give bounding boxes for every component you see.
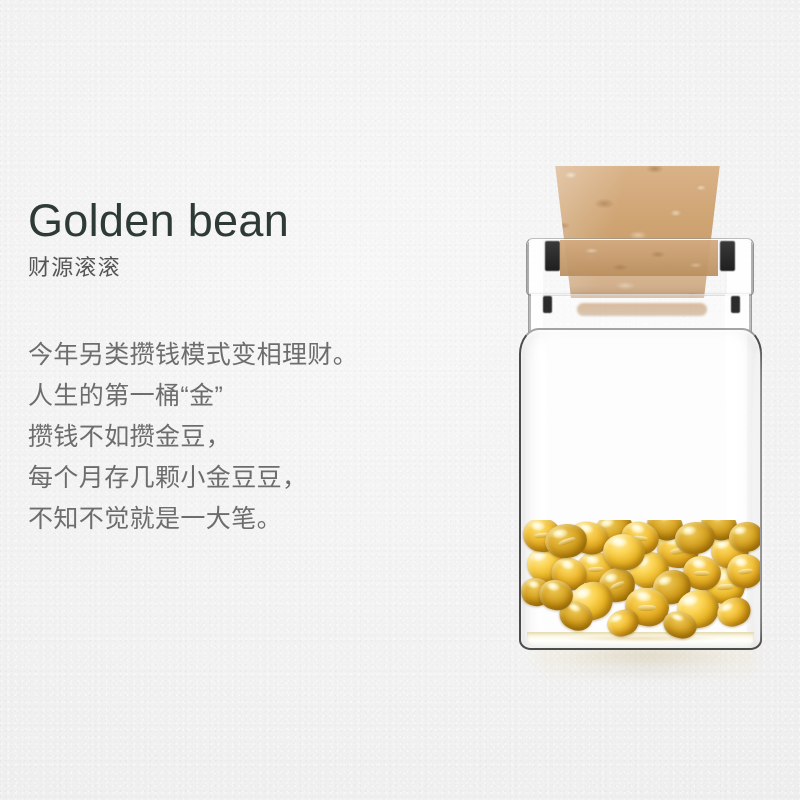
jar-base-glass — [527, 632, 754, 648]
text-column: Golden bean 财源滚滚 今年另类攒钱模式变相理财。 人生的第一桶“金”… — [28, 196, 468, 540]
body-line: 不知不觉就是一大笔。 — [28, 499, 468, 540]
body-line: 攒钱不如攒金豆， — [28, 417, 468, 458]
body-line: 人生的第一桶“金” — [28, 376, 468, 417]
body-line: 每个月存几颗小金豆豆， — [28, 458, 468, 499]
glass-jar-with-golden-beans — [516, 160, 778, 700]
body-copy: 今年另类攒钱模式变相理财。 人生的第一桶“金” 攒钱不如攒金豆， 每个月存几颗小… — [28, 335, 468, 540]
product-banner: Golden bean 财源滚滚 今年另类攒钱模式变相理财。 人生的第一桶“金”… — [0, 0, 800, 800]
golden-beans-pile — [521, 520, 760, 648]
cork-inside-neck — [560, 240, 718, 276]
page-title: Golden bean — [28, 196, 468, 246]
page-subtitle: 财源滚滚 — [28, 254, 468, 283]
jar-body — [519, 328, 762, 650]
body-line: 今年另类攒钱模式变相理财。 — [28, 335, 468, 376]
